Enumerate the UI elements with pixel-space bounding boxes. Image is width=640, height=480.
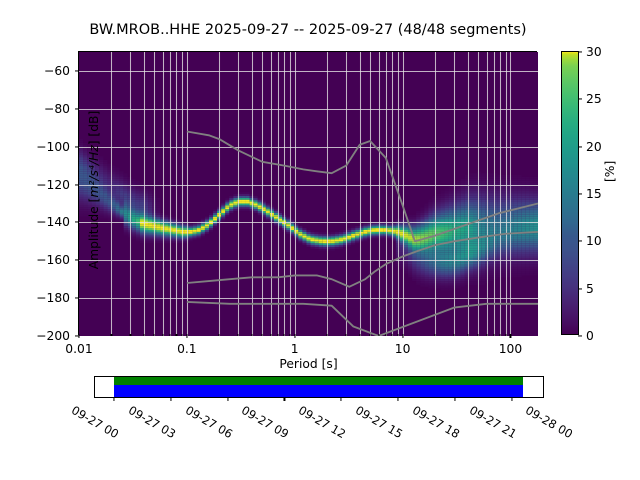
x-tick-mark-minor bbox=[385, 334, 386, 336]
x-tick-mark-minor bbox=[435, 334, 436, 336]
y-tick-mark bbox=[75, 260, 79, 261]
x-tick-mark-minor bbox=[493, 334, 494, 336]
x-tick-mark-minor bbox=[477, 334, 478, 336]
x-axis-label: Period [s] bbox=[79, 357, 538, 371]
x-tick-mark-minor bbox=[370, 334, 371, 336]
x-tick-mark-minor bbox=[505, 334, 506, 336]
x-tick-mark-minor bbox=[499, 334, 500, 336]
y-tick-mark bbox=[75, 146, 79, 147]
x-tick-mark-minor bbox=[111, 334, 112, 336]
x-tick-mark bbox=[510, 334, 511, 338]
y-tick-mark bbox=[75, 70, 79, 71]
timeline-tick-label: 09-28 00 bbox=[523, 403, 575, 441]
colorbar-tick-label: 5 bbox=[586, 282, 594, 296]
timeline-tick-label: 09-27 06 bbox=[183, 403, 235, 441]
colorbar-tick-mark bbox=[578, 99, 582, 100]
timeline-tick-label: 09-27 18 bbox=[410, 403, 462, 441]
x-tick-label: 100 bbox=[499, 342, 522, 356]
x-tick-mark-minor bbox=[346, 334, 347, 336]
y-tick-mark bbox=[75, 108, 79, 109]
x-tick-mark-minor bbox=[397, 334, 398, 336]
timeline-tick-label: 09-27 21 bbox=[467, 403, 519, 441]
y-tick-label: −60 bbox=[44, 64, 70, 78]
ppsd-heatmap-canvas bbox=[79, 52, 538, 336]
page-title: BW.MROB..HHE 2025-09-27 -- 2025-09-27 (4… bbox=[78, 22, 538, 38]
x-tick-mark-minor bbox=[238, 334, 239, 336]
y-tick-label: −140 bbox=[36, 215, 70, 229]
colorbar-tick-mark bbox=[578, 193, 582, 194]
timeline-tick-mark bbox=[511, 397, 512, 401]
ppsd-plot-area: Amplitude [m²/s⁴/Hz] [dB] Period [s] −60… bbox=[78, 51, 537, 335]
x-tick-mark-minor bbox=[143, 334, 144, 336]
x-tick-mark bbox=[294, 334, 295, 338]
y-tick-label: −160 bbox=[36, 253, 70, 267]
x-tick-mark-minor bbox=[162, 334, 163, 336]
x-tick-mark-minor bbox=[392, 334, 393, 336]
x-tick-mark-minor bbox=[219, 334, 220, 336]
y-tick-mark bbox=[75, 298, 79, 299]
x-tick-mark-minor bbox=[181, 334, 182, 336]
timeline-tick-mark bbox=[341, 397, 342, 401]
colorbar-tick-label: 10 bbox=[586, 234, 602, 248]
x-tick-mark-minor bbox=[289, 334, 290, 336]
x-tick-mark-minor bbox=[270, 334, 271, 336]
colorbar-tick-label: 20 bbox=[586, 140, 602, 154]
timeline-tick-mark bbox=[170, 397, 171, 401]
timeline-tick-mark bbox=[284, 397, 285, 401]
y-tick-label: −100 bbox=[36, 140, 70, 154]
timeline-tick-label: 09-27 12 bbox=[296, 403, 348, 441]
y-tick-mark bbox=[75, 184, 79, 185]
coverage-bar-gaps bbox=[114, 377, 523, 385]
x-tick-mark-minor bbox=[486, 334, 487, 336]
y-tick-label: −180 bbox=[36, 291, 70, 305]
colorbar-tick-mark bbox=[578, 146, 582, 147]
y-axis-label-math: m²/s⁴/Hz bbox=[87, 145, 101, 197]
x-tick-mark-minor bbox=[170, 334, 171, 336]
timeline-tick-mark bbox=[454, 397, 455, 401]
x-tick-mark-minor bbox=[327, 334, 328, 336]
x-tick-mark-minor bbox=[467, 334, 468, 336]
y-axis-label-prefix: Amplitude [ bbox=[87, 198, 101, 270]
timeline-tick-label: 09-27 03 bbox=[126, 403, 178, 441]
x-tick-mark-minor bbox=[359, 334, 360, 336]
colorbar-tick-label: 0 bbox=[586, 329, 594, 343]
colorbar-tick-label: 25 bbox=[586, 92, 602, 106]
timeline-tick-mark bbox=[397, 397, 398, 401]
timeline-tick-mark bbox=[227, 397, 228, 401]
y-tick-label: −120 bbox=[36, 178, 70, 192]
x-tick-mark-minor bbox=[454, 334, 455, 336]
timeline-tick-mark bbox=[113, 397, 114, 401]
y-tick-mark bbox=[75, 222, 79, 223]
figure: BW.MROB..HHE 2025-09-27 -- 2025-09-27 (4… bbox=[0, 0, 640, 480]
coverage-timeline[interactable]: 09-27 0009-27 0309-27 0609-27 0909-27 12… bbox=[94, 376, 544, 398]
x-tick-mark-minor bbox=[176, 334, 177, 336]
coverage-bar-data bbox=[114, 385, 523, 397]
colorbar-tick-mark bbox=[578, 241, 582, 242]
colorbar-label: [%] bbox=[603, 161, 617, 182]
x-tick-mark-minor bbox=[130, 334, 131, 336]
colorbar-tick-label: 30 bbox=[586, 45, 602, 59]
x-tick-label: 1 bbox=[291, 342, 299, 356]
y-tick-label: −200 bbox=[36, 329, 70, 343]
timeline-tick-label: 09-27 15 bbox=[353, 403, 405, 441]
x-tick-mark bbox=[186, 334, 187, 338]
y-axis-label: Amplitude [m²/s⁴/Hz] [dB] bbox=[87, 0, 101, 440]
x-tick-mark bbox=[402, 334, 403, 338]
colorbar-tick-mark bbox=[578, 51, 582, 52]
y-axis-label-suffix: ] [dB] bbox=[87, 111, 101, 146]
x-tick-mark-minor bbox=[251, 334, 252, 336]
x-tick-mark-minor bbox=[284, 334, 285, 336]
timeline-tick-label: 09-27 09 bbox=[239, 403, 291, 441]
colorbar-tick-mark bbox=[578, 288, 582, 289]
x-tick-mark-minor bbox=[262, 334, 263, 336]
x-tick-mark-minor bbox=[277, 334, 278, 336]
x-tick-label: 0.1 bbox=[177, 342, 197, 356]
colorbar: 051015202530 [%] bbox=[561, 51, 579, 335]
x-tick-label: 0.01 bbox=[65, 342, 92, 356]
x-tick-mark-minor bbox=[154, 334, 155, 336]
x-tick-label: 10 bbox=[395, 342, 411, 356]
x-tick-mark-minor bbox=[378, 334, 379, 336]
x-tick-mark bbox=[78, 334, 79, 338]
y-tick-label: −80 bbox=[44, 102, 70, 116]
colorbar-tick-mark bbox=[578, 335, 582, 336]
colorbar-tick-label: 15 bbox=[586, 187, 602, 201]
